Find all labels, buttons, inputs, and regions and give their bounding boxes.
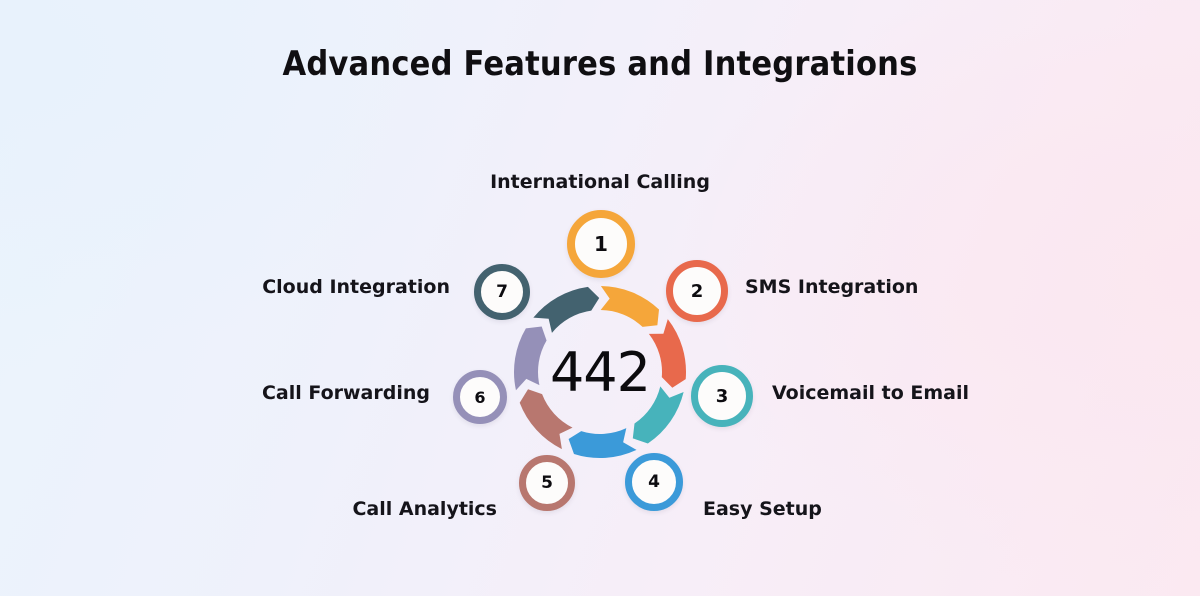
node-label-1: International Calling <box>300 171 900 193</box>
node-number: 3 <box>716 386 729 407</box>
node-circle-2[interactable]: 2 <box>666 260 728 322</box>
node-number: 6 <box>474 388 485 407</box>
node-label-6: Call Forwarding <box>0 382 430 404</box>
node-circle-5[interactable]: 5 <box>519 455 575 511</box>
node-circle-7[interactable]: 7 <box>474 264 530 320</box>
infographic-canvas: Advanced Features and Integrations 442 1… <box>0 0 1200 596</box>
cycle-diagram: 442 1234567 International CallingSMS Int… <box>0 0 1200 596</box>
node-number: 2 <box>691 281 704 302</box>
node-label-4: Easy Setup <box>703 498 822 520</box>
node-circle-4[interactable]: 4 <box>625 453 683 511</box>
node-number: 4 <box>648 472 660 492</box>
node-label-7: Cloud Integration <box>0 276 450 298</box>
node-circle-1[interactable]: 1 <box>567 210 635 278</box>
node-number: 1 <box>594 232 608 256</box>
node-label-5: Call Analytics <box>0 498 497 520</box>
node-label-3: Voicemail to Email <box>772 382 969 404</box>
node-circle-3[interactable]: 3 <box>691 365 753 427</box>
node-circle-6[interactable]: 6 <box>453 370 507 424</box>
node-label-2: SMS Integration <box>745 276 918 298</box>
node-number: 7 <box>496 282 508 302</box>
node-number: 5 <box>541 473 553 493</box>
